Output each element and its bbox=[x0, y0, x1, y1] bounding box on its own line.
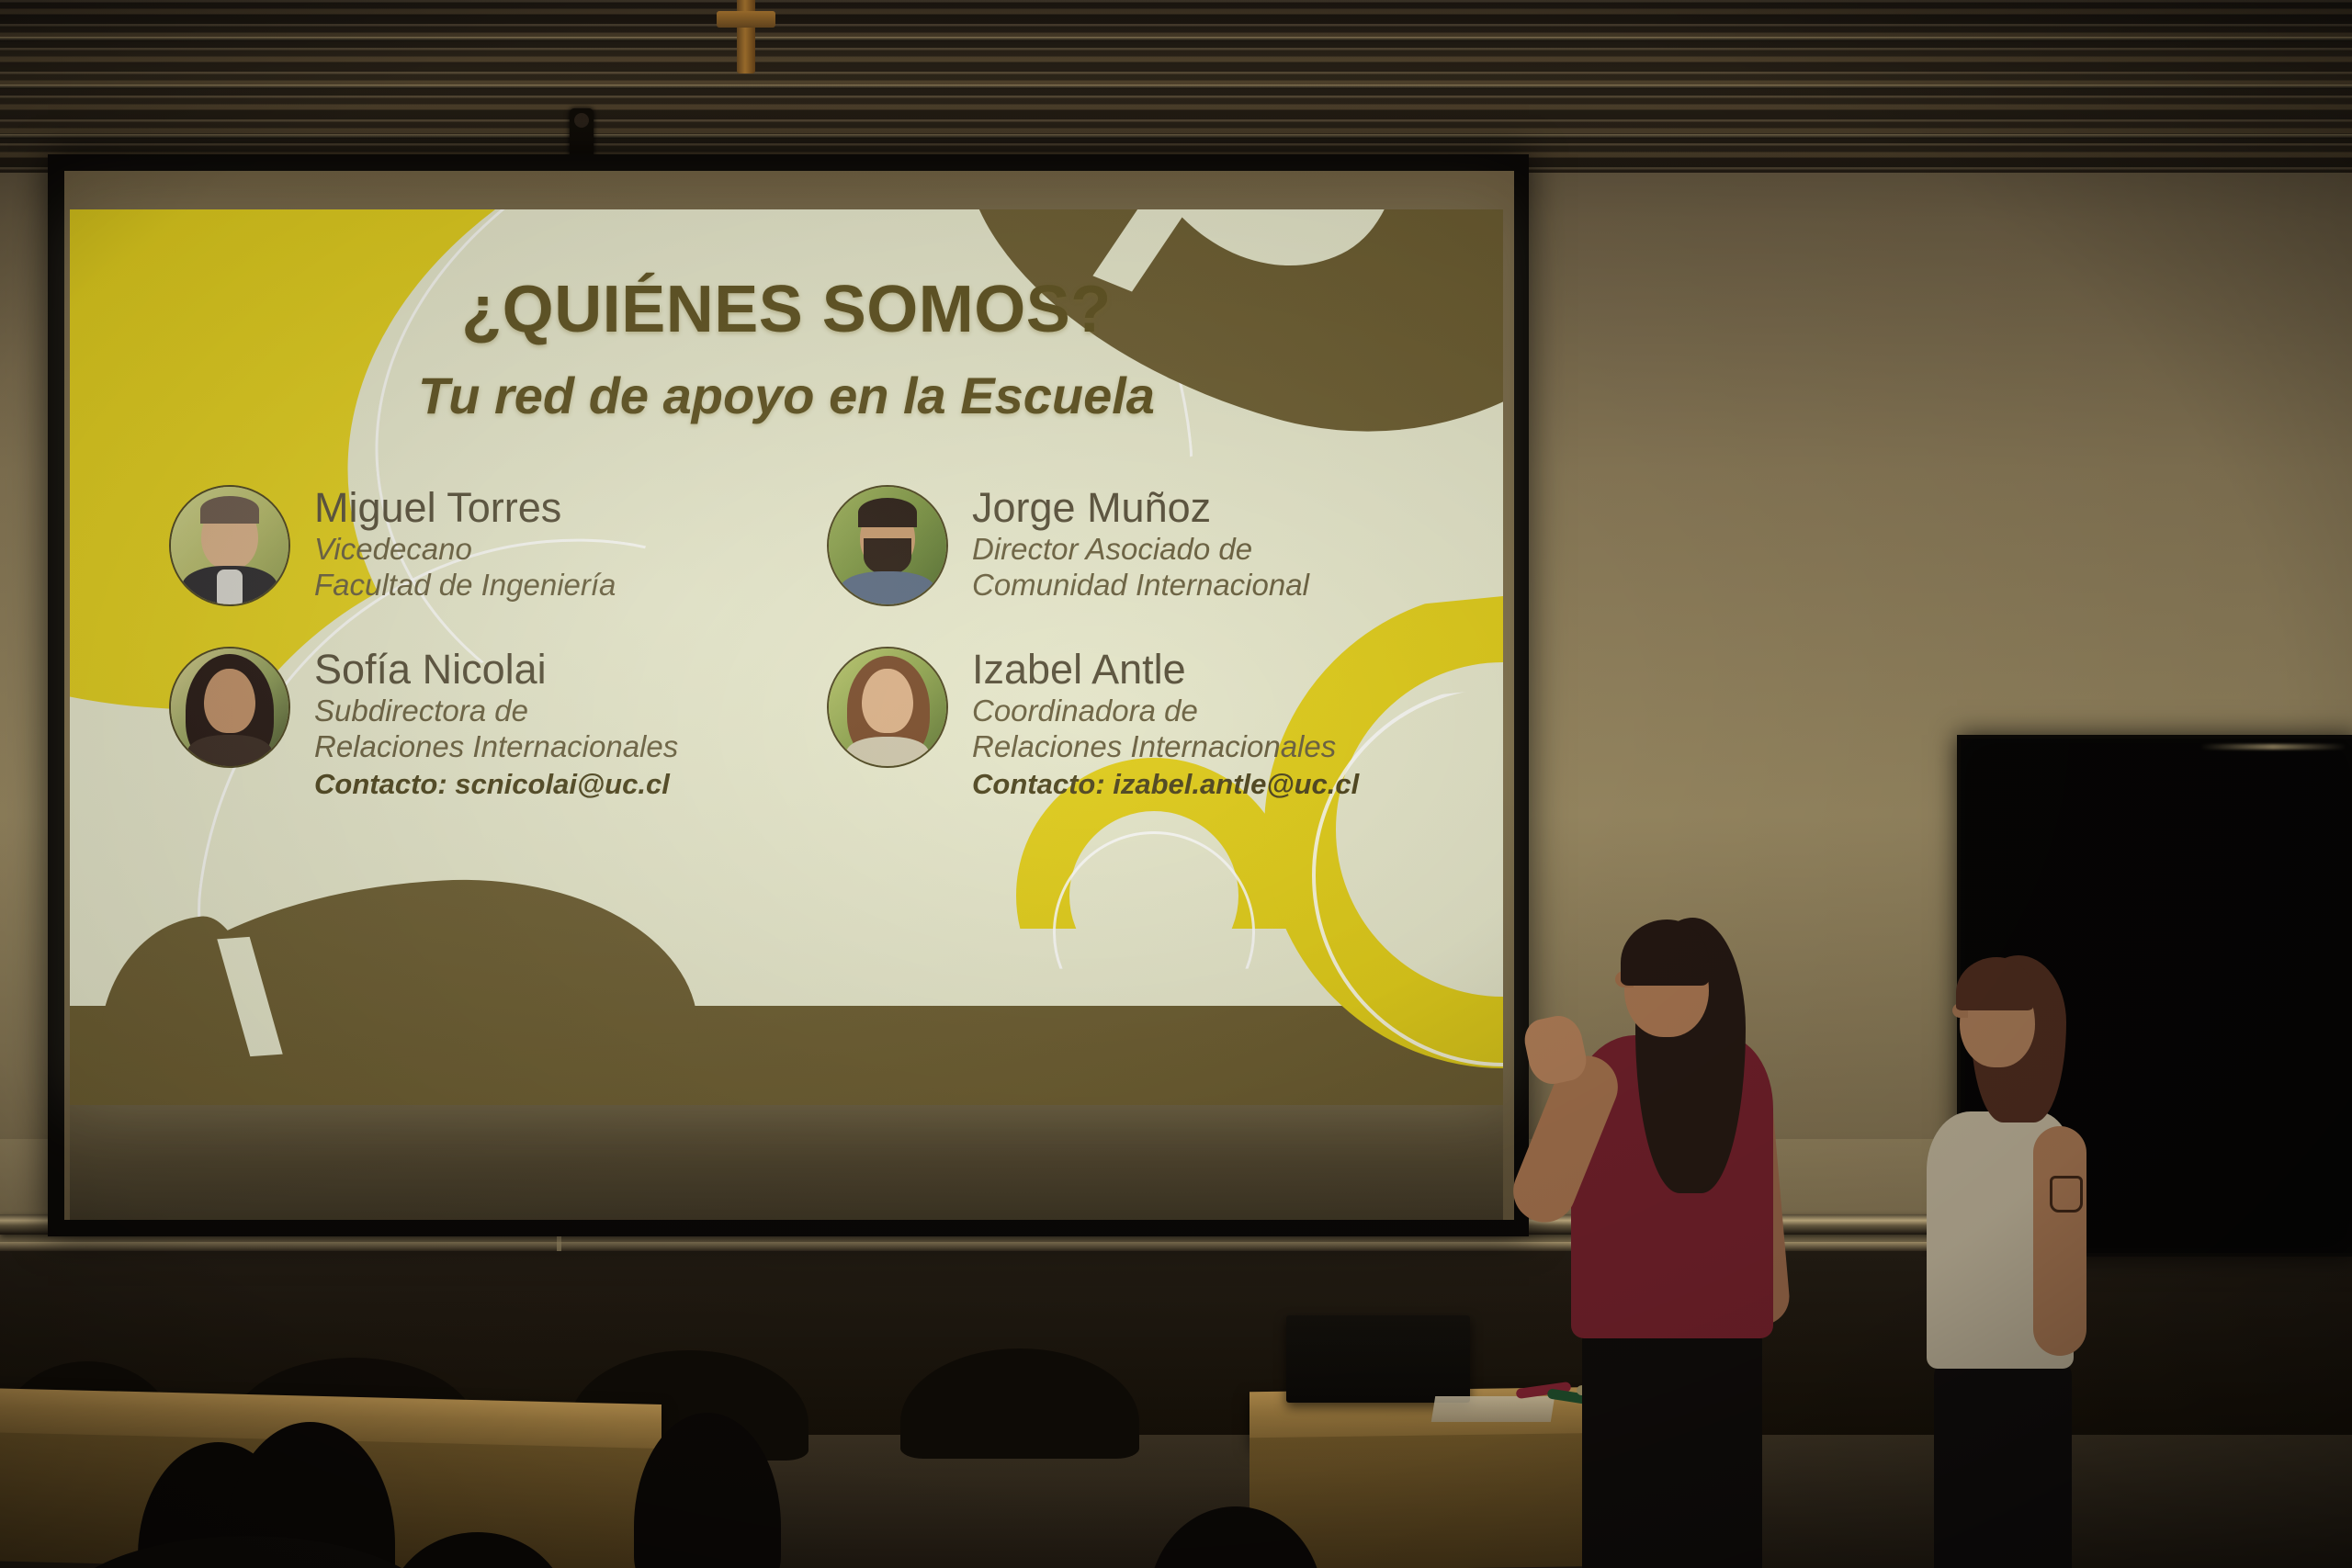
person-role-line2: Comunidad Internacional bbox=[972, 568, 1309, 604]
person-contact: Contacto: scnicolai@uc.cl bbox=[314, 768, 678, 801]
projection-spill bbox=[70, 1105, 1503, 1220]
person-card: Sofía Nicolai Subdirectora de Relaciones… bbox=[169, 647, 775, 801]
crucifix-icon bbox=[717, 0, 775, 73]
people-row: Miguel Torres Vicedecano Facultad de Ing… bbox=[169, 485, 1474, 606]
portrait-jorge-munoz-avatar bbox=[827, 485, 948, 606]
person-name: Sofía Nicolai bbox=[314, 649, 678, 690]
person-role-line1: Vicedecano bbox=[314, 532, 616, 568]
person-contact: Contacto: izabel.antle@uc.cl bbox=[972, 768, 1359, 801]
person-role-line2: Facultad de Ingeniería bbox=[314, 568, 616, 604]
person-role-line1: Subdirectora de bbox=[314, 694, 678, 729]
portrait-miguel-torres-avatar bbox=[169, 485, 290, 606]
person-role-line2: Relaciones Internacionales bbox=[314, 729, 678, 765]
people-row: Sofía Nicolai Subdirectora de Relaciones… bbox=[169, 647, 1474, 801]
presenter-speaking bbox=[1525, 914, 1801, 1568]
slide-subtitle: Tu red de apoyo en la Escuela bbox=[70, 366, 1503, 425]
person-name: Miguel Torres bbox=[314, 487, 616, 528]
ceiling-slats bbox=[0, 0, 2352, 173]
presentation-slide: ¿QUIÉNES SOMOS? Tu red de apoyo en la Es… bbox=[70, 209, 1503, 1105]
person-role-line2: Relaciones Internacionales bbox=[972, 729, 1359, 765]
person-name: Izabel Antle bbox=[972, 649, 1359, 690]
slide-title: ¿QUIÉNES SOMOS? bbox=[70, 272, 1503, 347]
person-card: Miguel Torres Vicedecano Facultad de Ing… bbox=[169, 485, 775, 606]
presenter-standing bbox=[1888, 946, 2145, 1568]
person-role-line1: Coordinadora de bbox=[972, 694, 1359, 729]
portrait-izabel-antle-avatar bbox=[827, 647, 948, 768]
person-card: Izabel Antle Coordinadora de Relaciones … bbox=[827, 647, 1433, 801]
lecture-hall-photo: ¿QUIÉNES SOMOS? Tu red de apoyo en la Es… bbox=[0, 0, 2352, 1568]
people-grid: Miguel Torres Vicedecano Facultad de Ing… bbox=[169, 485, 1474, 841]
laptop-icon bbox=[1286, 1315, 1470, 1403]
person-name: Jorge Muñoz bbox=[972, 487, 1309, 528]
person-role-line1: Director Asociado de bbox=[972, 532, 1309, 568]
portrait-sofia-nicolai-avatar bbox=[169, 647, 290, 768]
person-card: Jorge Muñoz Director Asociado de Comunid… bbox=[827, 485, 1433, 606]
